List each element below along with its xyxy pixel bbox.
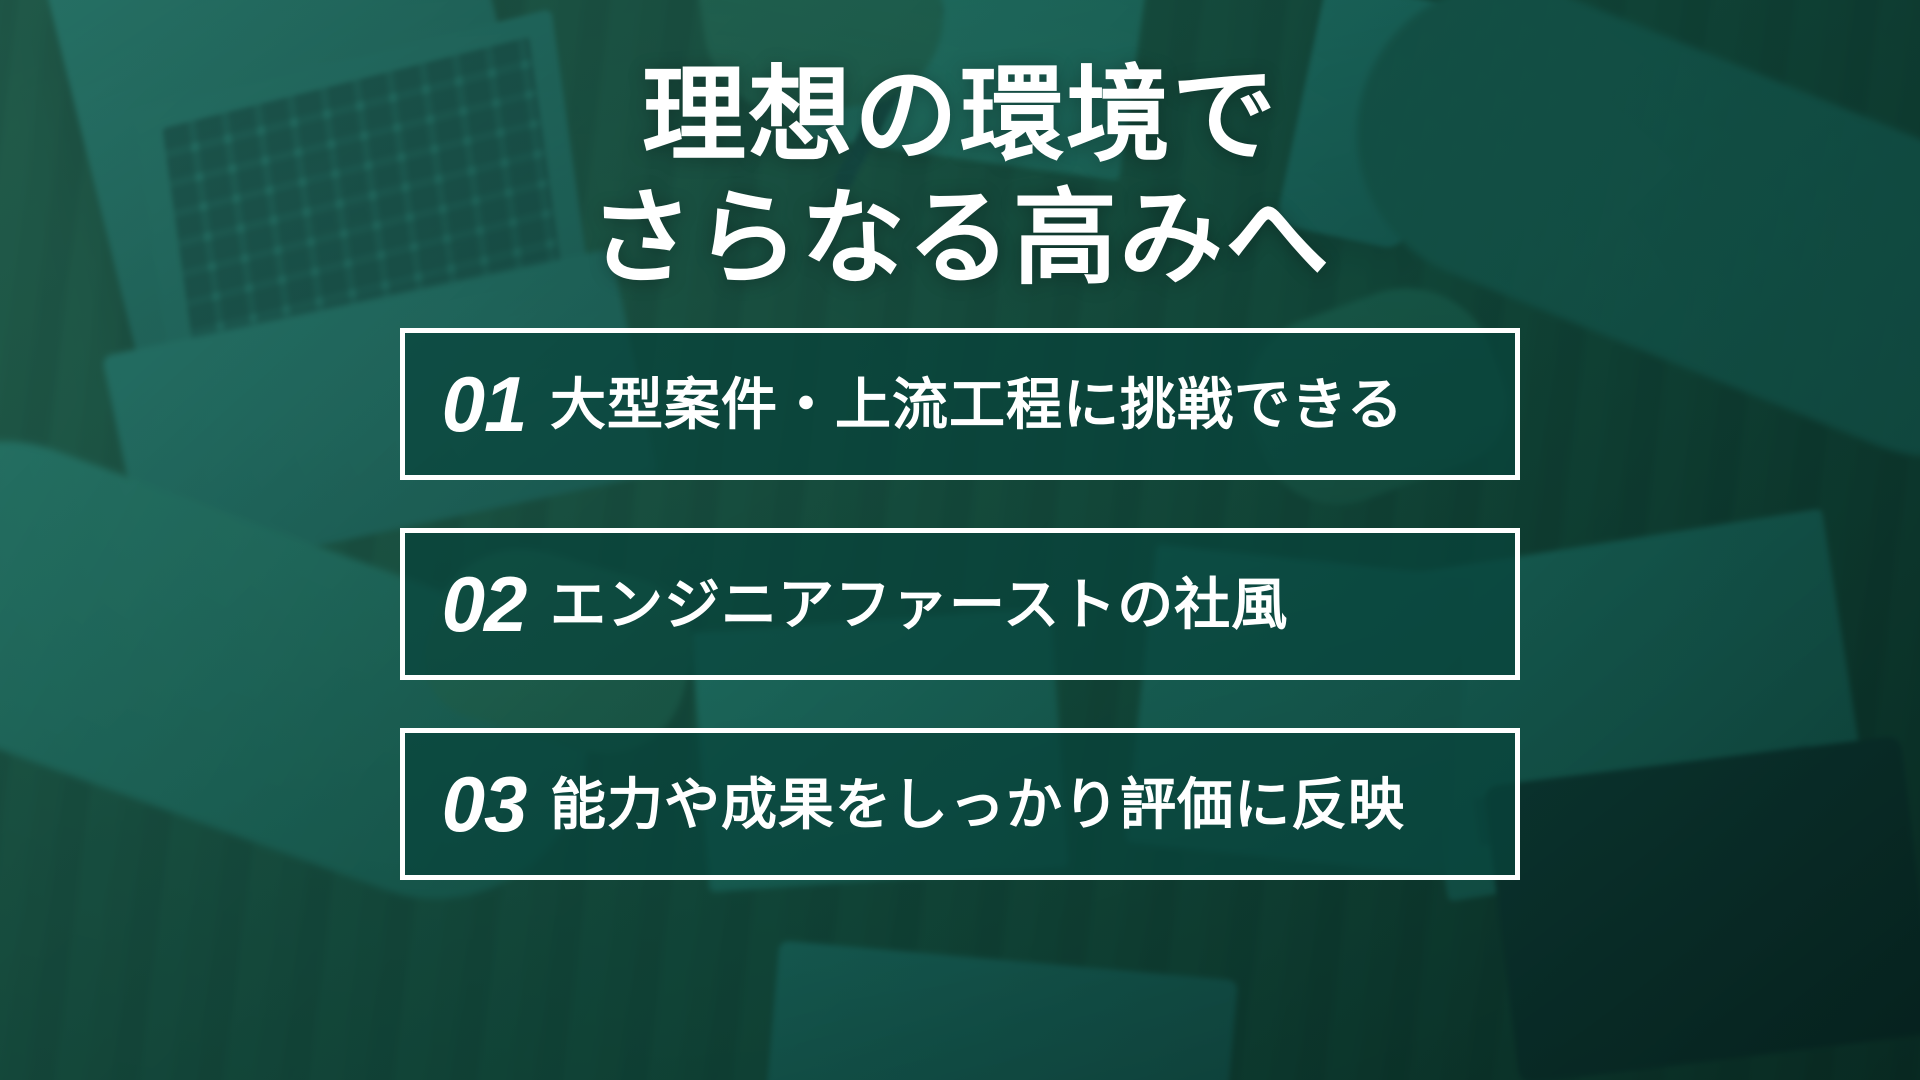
frame-left-border	[400, 528, 405, 680]
feature-number: 02	[400, 565, 550, 643]
feature-item-01: 01 大型案件・上流工程に挑戦できる	[400, 328, 1520, 480]
feature-list: 01 大型案件・上流工程に挑戦できる 02 エンジニアファーストの社風 03 能…	[400, 328, 1520, 880]
frame-top-border	[400, 728, 1520, 733]
feature-number: 03	[400, 765, 550, 843]
frame-left-border	[400, 328, 405, 480]
page-title: 理想の環境で さらなる高みへ	[589, 55, 1331, 300]
feature-label: 大型案件・上流工程に挑戦できる	[550, 374, 1404, 436]
frame-top-border	[400, 528, 1520, 533]
banner-stage: 理想の環境で さらなる高みへ 01 大型案件・上流工程に挑戦できる 02 エンジ…	[0, 0, 1920, 1080]
frame-left-border	[400, 728, 405, 880]
feature-label: エンジニアファーストの社風	[550, 574, 1288, 636]
headline-line-2: さらなる高みへ	[589, 178, 1331, 301]
frame-bottom-border	[400, 475, 1520, 480]
frame-right-border	[1515, 328, 1520, 480]
feature-number: 01	[400, 365, 550, 443]
banner-content: 理想の環境で さらなる高みへ 01 大型案件・上流工程に挑戦できる 02 エンジ…	[0, 0, 1920, 1080]
frame-top-border	[400, 328, 1520, 333]
frame-right-border	[1515, 728, 1520, 880]
headline-line-1: 理想の環境で	[589, 55, 1331, 178]
feature-item-03: 03 能力や成果をしっかり評価に反映	[400, 728, 1520, 880]
feature-label: 能力や成果をしっかり評価に反映	[550, 774, 1405, 836]
frame-bottom-border	[400, 675, 1520, 680]
frame-bottom-border	[400, 875, 1520, 880]
frame-right-border	[1515, 528, 1520, 680]
feature-item-02: 02 エンジニアファーストの社風	[400, 528, 1520, 680]
